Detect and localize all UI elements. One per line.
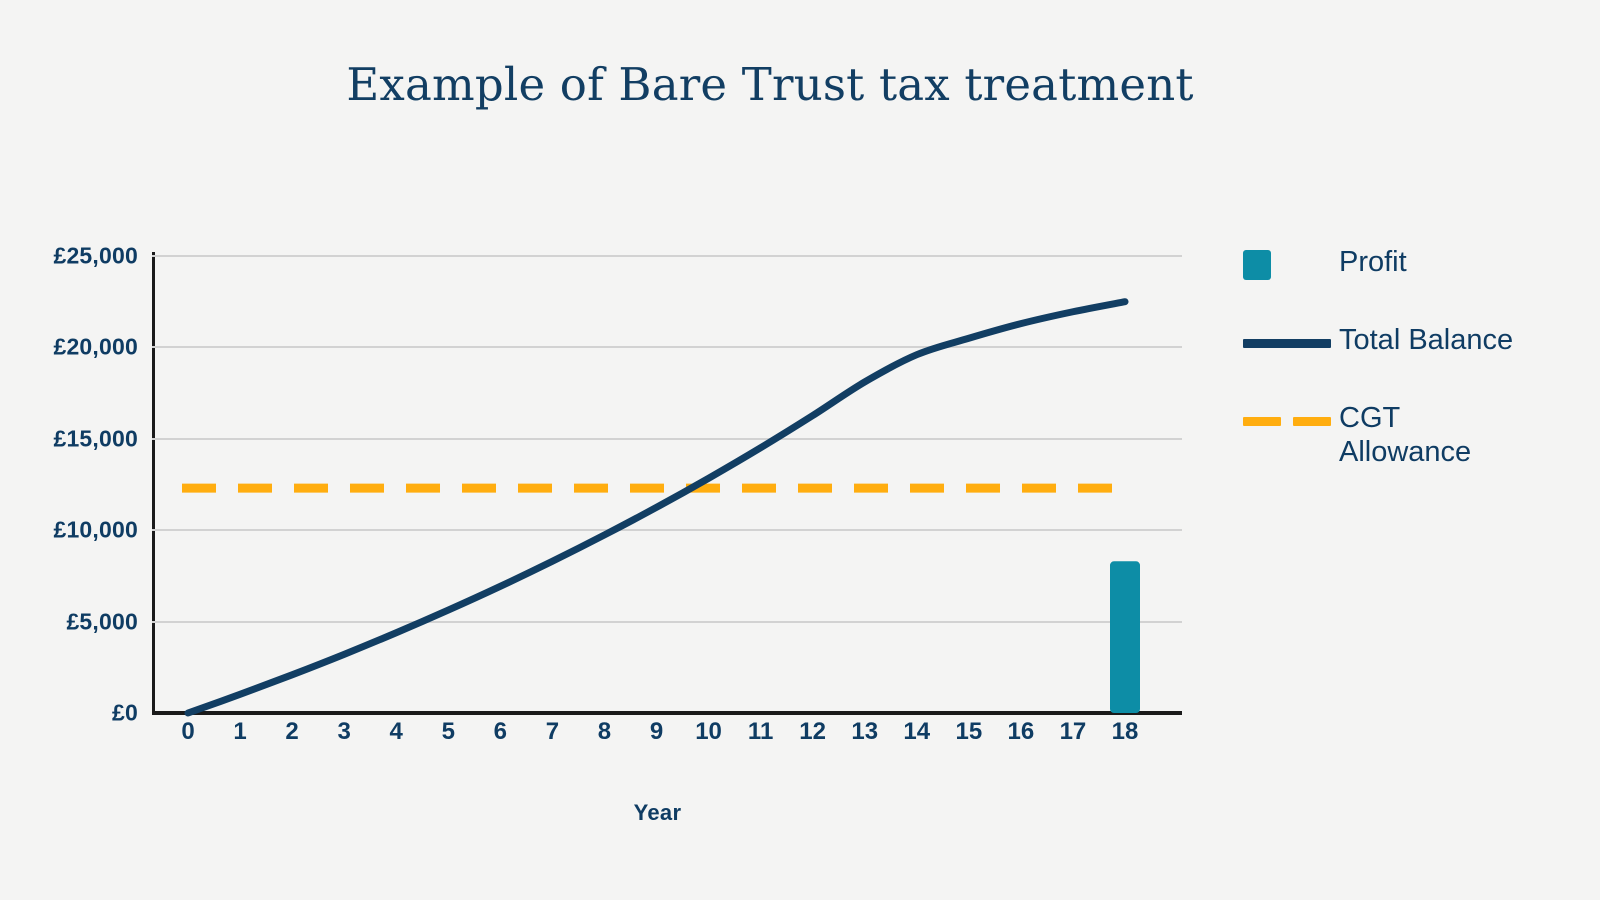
dashed-line-icon <box>1243 417 1331 426</box>
x-axis-tick-label: 2 <box>285 718 298 746</box>
x-axis-tick-label: 3 <box>337 718 350 746</box>
y-axis-tick-label: £5,000 <box>66 608 138 635</box>
legend-label-profit: Profit <box>1339 245 1407 279</box>
profit-square-icon <box>1243 250 1271 280</box>
x-axis-tick-label: 8 <box>598 718 611 746</box>
x-axis-tick-label: 4 <box>390 718 403 746</box>
y-axis-tick-label: £20,000 <box>53 334 138 361</box>
x-axis-tick-label: 1 <box>233 718 246 746</box>
legend-label-cgt-allowance: CGT Allowance <box>1339 401 1471 469</box>
total-balance-line <box>188 302 1125 713</box>
x-axis-tick-label: 18 <box>1112 718 1139 746</box>
x-axis-tick-label: 0 <box>181 718 194 746</box>
x-axis-tick-label: 15 <box>955 718 982 746</box>
chart-figure: Example of Bare Trust tax treatment £0£5… <box>0 0 1600 900</box>
x-axis-title: Year <box>0 800 1315 826</box>
y-axis-tick-label: £25,000 <box>53 243 138 270</box>
x-axis-tick-label: 12 <box>799 718 826 746</box>
x-axis-tick-label: 16 <box>1008 718 1035 746</box>
x-axis-tick-label: 11 <box>748 718 773 746</box>
profit-bar <box>1110 561 1140 713</box>
legend-swatch-profit <box>1243 245 1333 285</box>
solid-line-icon <box>1243 339 1331 348</box>
legend-swatch-cgt-allowance <box>1243 401 1333 441</box>
legend-item-profit: Profit <box>1243 245 1593 289</box>
data-series-layer <box>152 256 1182 713</box>
x-axis-tick-label: 7 <box>546 718 559 746</box>
chart-legend: Profit Total Balance CGT Allowance <box>1243 245 1593 503</box>
legend-label-total-balance: Total Balance <box>1339 323 1513 357</box>
legend-item-total-balance: Total Balance <box>1243 323 1593 367</box>
x-axis-tick-label: 9 <box>650 718 663 746</box>
chart-title: Example of Bare Trust tax treatment <box>0 58 1540 111</box>
plot-area <box>152 256 1182 713</box>
x-axis-tick-label: 6 <box>494 718 507 746</box>
x-axis-tick-label: 13 <box>851 718 878 746</box>
x-axis-tick-label: 14 <box>903 718 930 746</box>
x-axis-tick-label: 5 <box>442 718 455 746</box>
y-axis-tick-label: £15,000 <box>53 425 138 452</box>
y-axis-tick-label: £0 <box>112 700 138 727</box>
y-axis-tick-label: £10,000 <box>53 517 138 544</box>
x-axis-tick-label: 17 <box>1060 718 1087 746</box>
x-axis-tick-label: 10 <box>695 718 722 746</box>
legend-item-cgt-allowance: CGT Allowance <box>1243 401 1593 469</box>
legend-swatch-total-balance <box>1243 323 1333 363</box>
